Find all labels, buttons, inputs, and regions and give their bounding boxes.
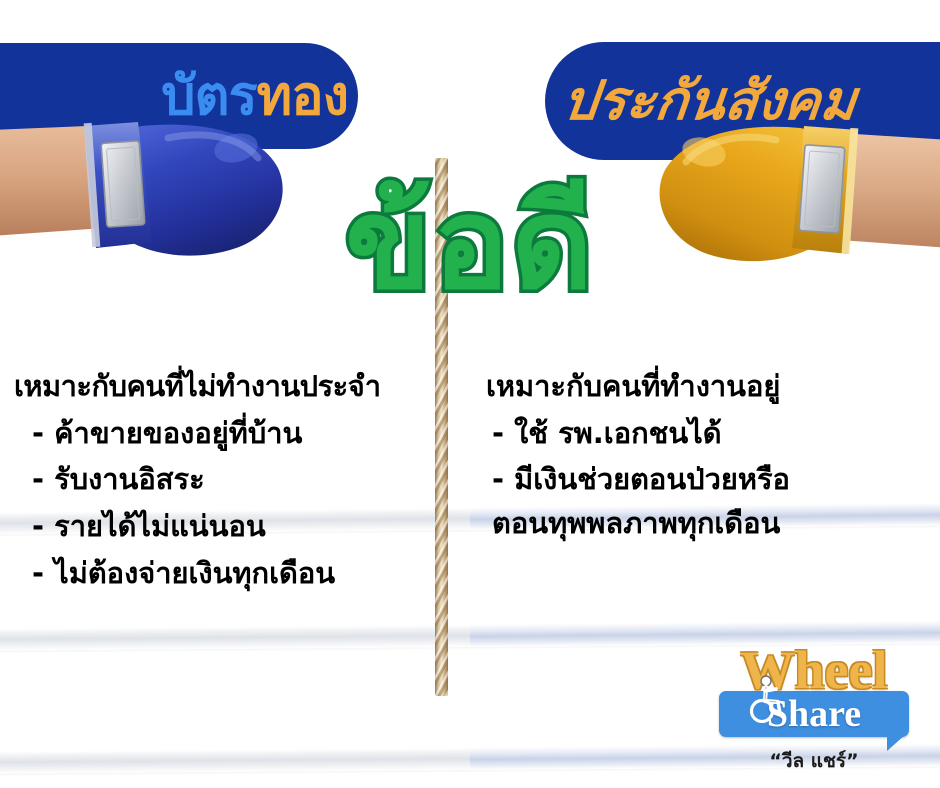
blue-boxing-glove — [0, 120, 292, 265]
yellow-boxing-glove — [640, 120, 940, 270]
page-title-text: ข้อดี — [345, 178, 595, 310]
column-social-security-benefits: เหมาะกับคนที่ทำงานอยู่ - ใช้ รพ.เอกชนได้… — [478, 368, 908, 543]
column-left-item-1: - ค้าขายของอยู่ที่บ้าน — [14, 415, 424, 453]
banner-left-label-part1: บัตร — [161, 64, 256, 127]
column-right-heading: เหมาะกับคนที่ทำงานอยู่ — [478, 368, 908, 406]
column-left-heading: เหมาะกับคนที่ไม่ทำงานประจำ — [14, 368, 424, 406]
wheelshare-logo[interactable]: Wheel Share “วีล แชร์” — [700, 643, 928, 779]
column-left-item-4: - ไม่ต้องจ่ายเงินทุกเดือน — [14, 555, 424, 593]
wheelchair-icon — [745, 675, 785, 723]
column-right-item-2-continuation: ตอนทุพพลภาพทุกเดือน — [478, 505, 908, 543]
banner-left-label-part2: ทอง — [257, 64, 348, 127]
column-right-item-2: - มีเงินช่วยตอนป่วยหรือ — [478, 461, 908, 499]
column-left-item-3: - รายได้ไม่แน่นอน — [14, 508, 424, 546]
banner-left-label: บัตรทอง — [161, 69, 348, 123]
logo-wheel-text: Wheel — [700, 643, 928, 697]
vertical-divider-rope — [435, 158, 448, 696]
column-right-item-1: - ใช้ รพ.เอกชนได้ — [478, 415, 908, 453]
infographic-canvas: บัตรทอง ประกันสังคม — [0, 0, 940, 788]
column-left-item-2: - รับงานอิสระ — [14, 461, 424, 499]
column-gold-card-benefits: เหมาะกับคนที่ไม่ทำงานประจำ - ค้าขายของอย… — [14, 368, 424, 592]
